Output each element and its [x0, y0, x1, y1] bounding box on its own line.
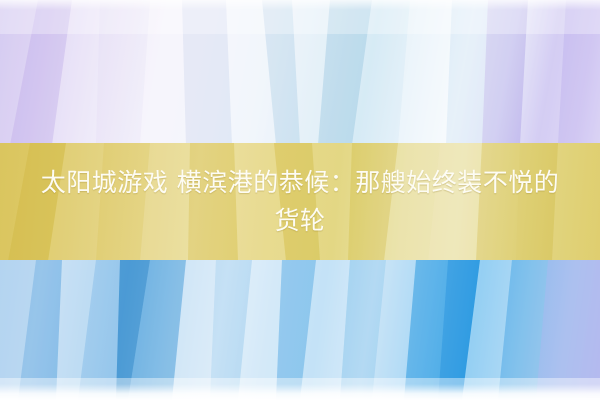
title-line-1: 太阳城游戏 横滨港的恭候：那艘始终装不悦的 — [8, 164, 592, 202]
banner-title: 太阳城游戏 横滨港的恭候：那艘始终装不悦的 货轮 — [0, 143, 600, 261]
top-prism-facets-icon — [0, 0, 600, 145]
bottom-prism-facets-icon — [0, 260, 600, 400]
bottom-gradient-band — [0, 260, 600, 400]
top-gradient-band — [0, 0, 600, 145]
decorative-banner: 太阳城游戏 横滨港的恭候：那艘始终装不悦的 货轮 — [0, 0, 600, 400]
title-line-2: 货轮 — [8, 202, 592, 240]
